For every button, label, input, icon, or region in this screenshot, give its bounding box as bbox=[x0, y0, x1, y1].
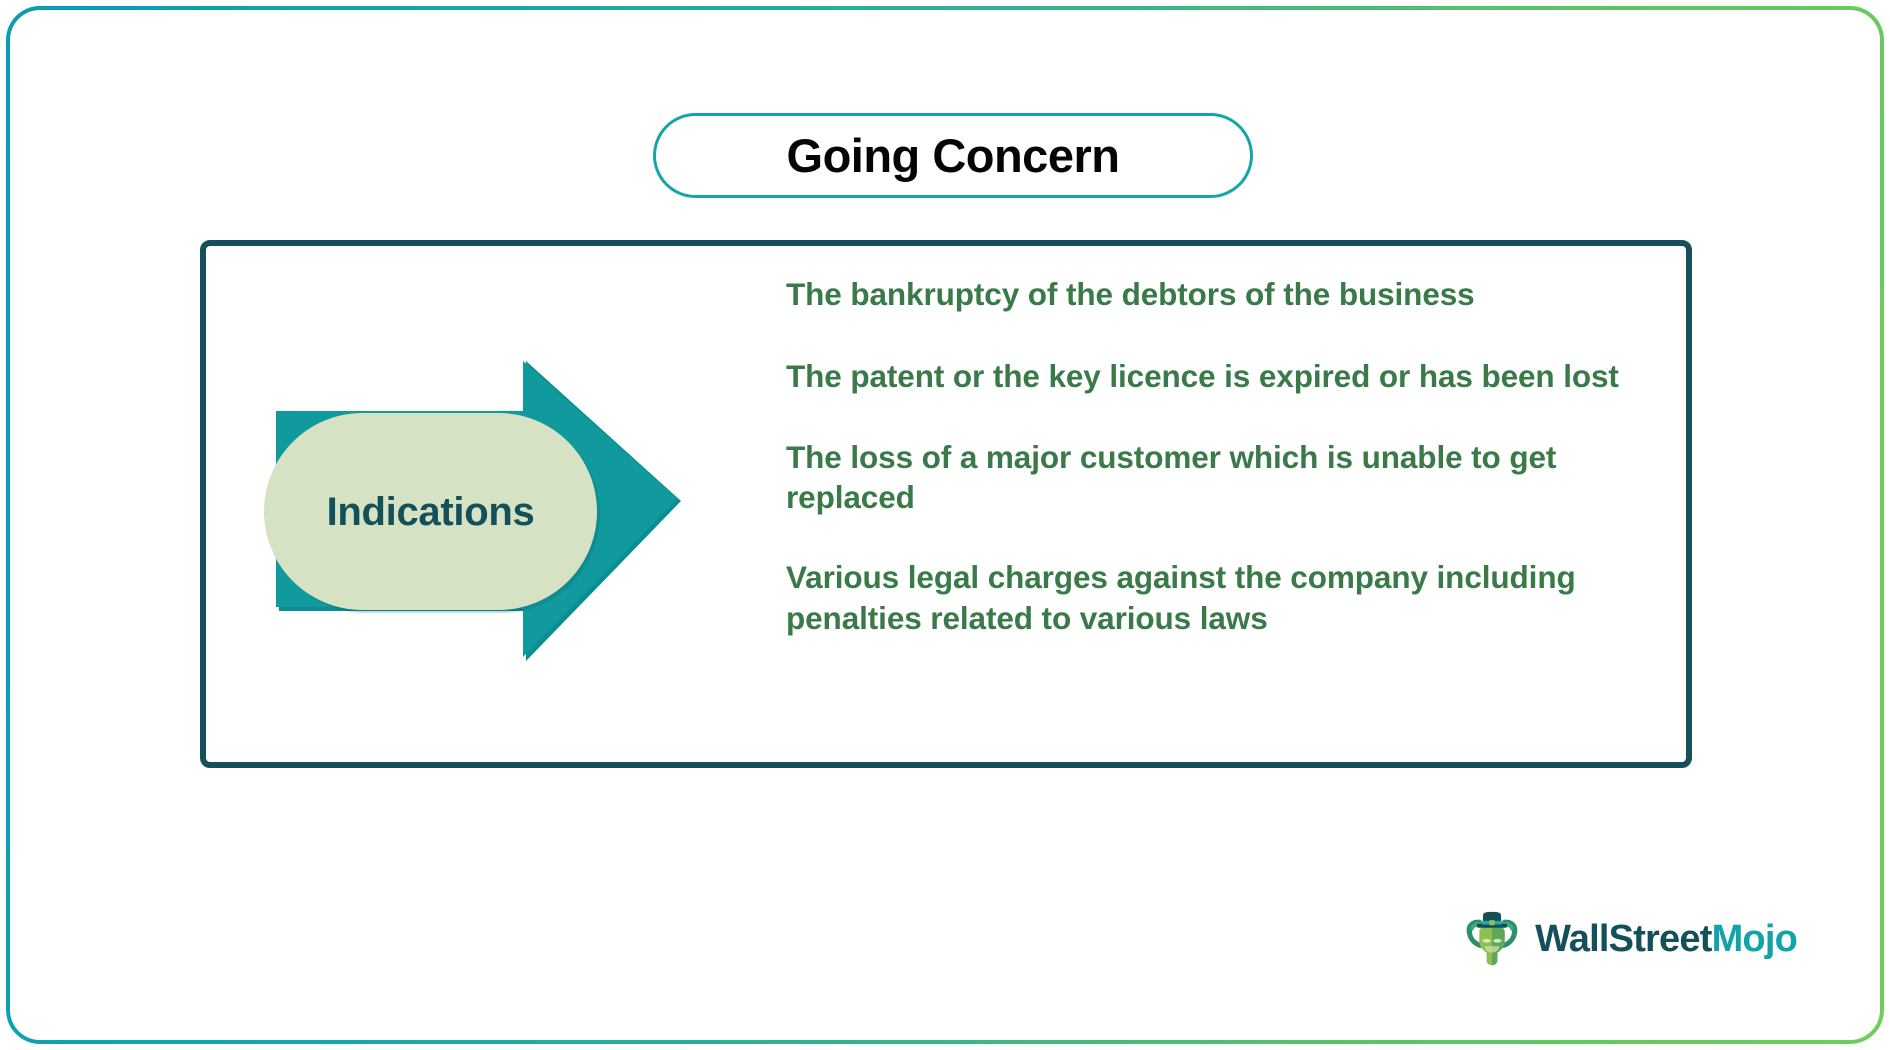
list-item: Various legal charges against the compan… bbox=[786, 557, 1676, 638]
infographic-root: Going Concern Indications The bankruptc bbox=[0, 0, 1890, 1050]
indications-pill: Indications bbox=[264, 413, 597, 610]
brand-name-primary: WallStreet bbox=[1535, 918, 1711, 960]
page-title: Going Concern bbox=[787, 132, 1120, 179]
brand-logo: WallStreetMojo bbox=[1463, 910, 1797, 968]
list-item: The patent or the key licence is expired… bbox=[786, 356, 1676, 396]
brand-name-accent: Mojo bbox=[1712, 918, 1797, 960]
indications-points-list: The bankruptcy of the debtors of the bus… bbox=[786, 274, 1676, 638]
list-item: The loss of a major customer which is un… bbox=[786, 437, 1676, 518]
outer-gradient-frame: Going Concern Indications The bankruptc bbox=[6, 6, 1884, 1044]
brand-wordmark: WallStreetMojo bbox=[1535, 920, 1797, 958]
page-title-pill: Going Concern bbox=[653, 113, 1253, 198]
indications-arrow-group: Indications bbox=[221, 361, 681, 661]
indications-label: Indications bbox=[327, 492, 535, 532]
bull-with-tophat-icon bbox=[1463, 910, 1521, 968]
list-item: The bankruptcy of the debtors of the bus… bbox=[786, 274, 1676, 314]
canvas: Going Concern Indications The bankruptc bbox=[10, 10, 1880, 1040]
content-panel: Indications The bankruptcy of the debtor… bbox=[200, 240, 1692, 768]
